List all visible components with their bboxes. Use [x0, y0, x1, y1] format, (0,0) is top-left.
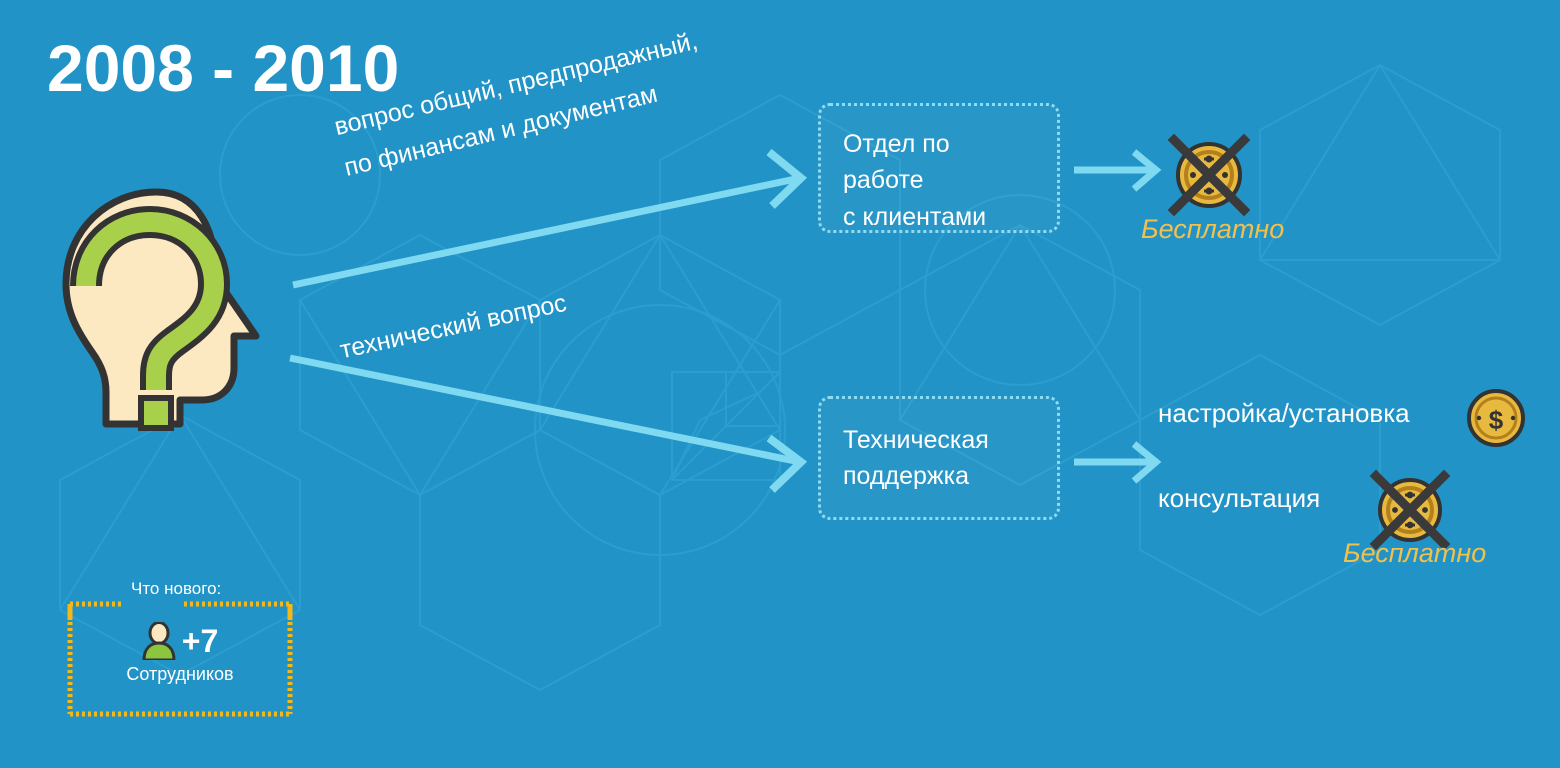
- department-box-support[interactable]: Техническая поддержка: [818, 396, 1060, 520]
- dollar-coin-icon: $: [1466, 388, 1526, 448]
- head-question-icon: [40, 186, 268, 438]
- svg-text:$: $: [1489, 405, 1504, 435]
- arrow-right-icon-clients: [1072, 148, 1164, 192]
- path-label-technical-line1: технический вопрос: [336, 282, 570, 371]
- department-support-line2: поддержка: [843, 458, 1035, 494]
- infographic-slide: 2008 - 2010 вопрос общий, предпродажный,…: [0, 0, 1560, 768]
- arrow-right-icon-support: [1072, 440, 1164, 484]
- department-clients-line2: с клиентами: [843, 199, 1035, 235]
- service-label-setup: настройка/установка: [1158, 398, 1410, 429]
- news-badge-body: +7 Сотрудников: [66, 622, 294, 685]
- arrow-line-general: [293, 178, 800, 285]
- arrow-line-technical: [290, 358, 800, 462]
- arrow-head-technical: [769, 438, 801, 490]
- arrow-head-general: [769, 152, 801, 206]
- path-label-technical: технический вопрос: [336, 282, 570, 371]
- department-box-clients[interactable]: Отдел по работе с клиентами: [818, 103, 1060, 233]
- service-label-consultation: консультация: [1158, 483, 1320, 514]
- department-support-line1: Техническая: [843, 422, 1035, 458]
- price-label-free-consultation: Бесплатно: [1343, 538, 1486, 569]
- coin-crossed-out-icon: [1166, 132, 1252, 218]
- news-badge-count: +7: [182, 625, 218, 657]
- news-badge-title: Что нового:: [126, 579, 226, 599]
- news-badge-caption: Сотрудников: [66, 664, 294, 685]
- department-clients-line1: Отдел по работе: [843, 126, 1035, 199]
- news-badge: Что нового: +7 Сотрудников: [66, 600, 294, 718]
- price-label-free-clients: Бесплатно: [1141, 214, 1284, 245]
- person-icon: [142, 622, 176, 660]
- page-title: 2008 - 2010: [47, 35, 399, 101]
